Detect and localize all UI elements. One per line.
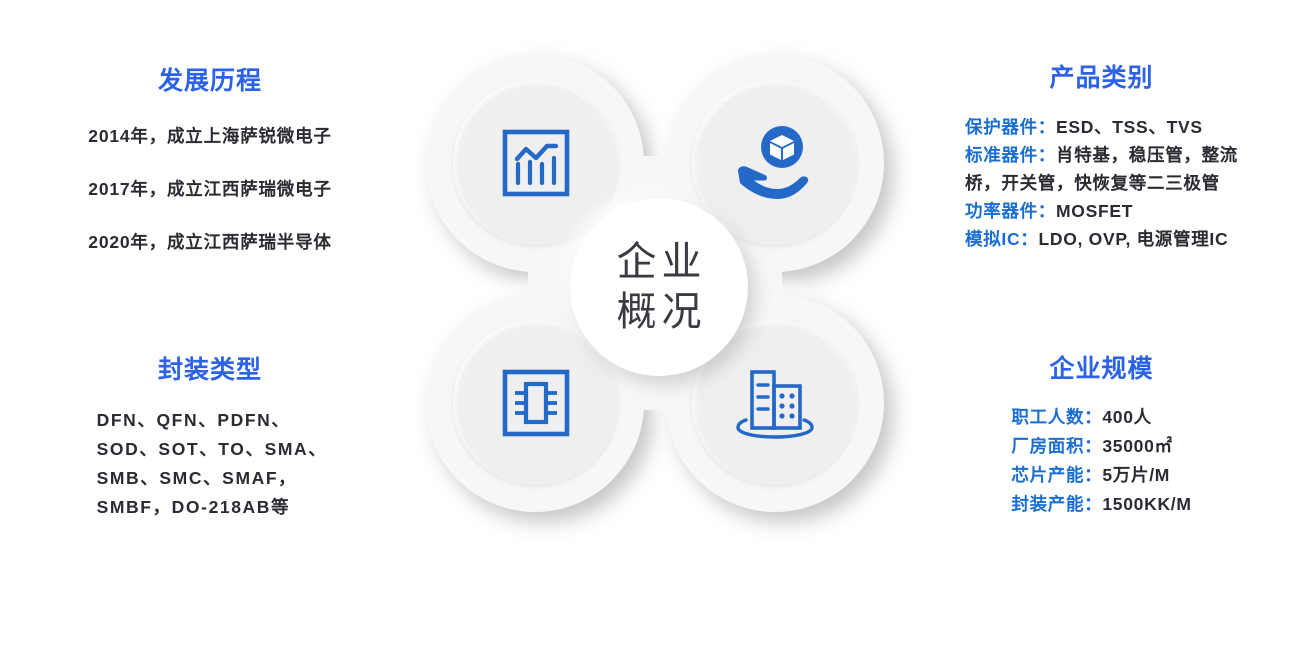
history-item-2014: 2014年，成立上海萨锐微电子 <box>0 123 420 148</box>
product-category-list: 保护器件：ESD、TSS、TVS 标准器件：肖特基，稳压管，整流 桥，开关管，快… <box>965 113 1238 253</box>
scale-value-employees: 400人 <box>1102 407 1152 427</box>
center-title-line-2: 概况 <box>612 287 707 337</box>
scale-line-employees: 职工人数：400人 <box>1011 403 1191 432</box>
scale-value-chip-capacity: 5万片/M <box>1102 465 1170 485</box>
center-title-circle: 企业 概况 <box>570 198 748 376</box>
panel-title-product-categories: 产品类别 <box>900 65 1303 93</box>
package-line-3: SMB、SMC、SMAF， <box>97 464 328 493</box>
scale-line-package-capacity: 封装产能：1500KK/M <box>1011 490 1191 519</box>
product-line-standard: 标准器件：肖特基，稳压管，整流 <box>965 141 1238 169</box>
scale-label-factory-area: 厂房面积： <box>1011 436 1102 456</box>
buildings-icon <box>735 364 815 442</box>
panel-enterprise-scale: 企业规模 职工人数：400人 厂房面积：35000㎡ 芯片产能：5万片/M 封装… <box>900 356 1303 519</box>
scale-line-chip-capacity: 芯片产能：5万片/M <box>1011 461 1191 490</box>
product-value-standard-cont: 桥，开关管，快恢复等二三极管 <box>965 173 1220 193</box>
package-line-1: DFN、QFN、PDFN、 <box>97 406 328 435</box>
panel-package-types: 封装类型 DFN、QFN、PDFN、 SOD、SOT、TO、SMA、 SMB、S… <box>0 357 420 522</box>
product-line-power: 功率器件：MOSFET <box>965 197 1238 225</box>
scale-label-employees: 职工人数： <box>1011 407 1102 427</box>
package-line-4: SMBF，DO-218AB等 <box>97 493 328 522</box>
panel-title-enterprise-scale: 企业规模 <box>900 356 1303 384</box>
product-line-analog-ic: 模拟IC：LDO, OVP, 电源管理IC <box>965 225 1238 253</box>
scale-label-chip-capacity: 芯片产能： <box>1011 465 1102 485</box>
enterprise-scale-list: 职工人数：400人 厂房面积：35000㎡ 芯片产能：5万片/M 封装产能：15… <box>1011 403 1191 519</box>
product-line-protection: 保护器件：ESD、TSS、TVS <box>965 113 1238 141</box>
history-item-2017: 2017年，成立江西萨瑞微电子 <box>0 176 420 201</box>
hand-holding-box-icon <box>734 123 816 203</box>
history-item-2020: 2020年，成立江西萨瑞半导体 <box>0 229 420 254</box>
scale-value-factory-area: 35000㎡ <box>1102 436 1172 456</box>
product-value-standard: 肖特基，稳压管，整流 <box>1056 145 1238 165</box>
product-label-protection: 保护器件： <box>965 117 1056 137</box>
product-label-analog-ic: 模拟IC： <box>965 229 1039 249</box>
scale-line-factory-area: 厂房面积：35000㎡ <box>1011 432 1191 461</box>
panel-development-history: 发展历程 2014年，成立上海萨锐微电子 2017年，成立江西萨瑞微电子 202… <box>0 68 420 254</box>
product-value-protection: ESD、TSS、TVS <box>1056 117 1203 137</box>
package-line-2: SOD、SOT、TO、SMA、 <box>97 435 328 464</box>
product-value-analog-ic: LDO, OVP, 电源管理IC <box>1039 229 1229 249</box>
package-type-list: DFN、QFN、PDFN、 SOD、SOT、TO、SMA、 SMB、SMC、SM… <box>97 406 328 522</box>
product-value-power: MOSFET <box>1056 201 1133 221</box>
chip-package-icon <box>499 366 573 440</box>
scale-label-package-capacity: 封装产能： <box>1011 494 1102 514</box>
infographic-canvas: 发展历程 2014年，成立上海萨锐微电子 2017年，成立江西萨瑞微电子 202… <box>0 0 1303 649</box>
cloverleaf-graphic: 企业 概况 <box>420 48 890 518</box>
panel-title-package-types: 封装类型 <box>0 357 420 385</box>
panel-product-categories: 产品类别 保护器件：ESD、TSS、TVS 标准器件：肖特基，稳压管，整流 桥，… <box>900 65 1303 253</box>
product-label-standard: 标准器件： <box>965 145 1056 165</box>
center-title-line-1: 企业 <box>612 237 707 287</box>
bar-chart-icon <box>499 126 573 200</box>
panel-title-development-history: 发展历程 <box>0 68 420 96</box>
product-line-standard-cont: 桥，开关管，快恢复等二三极管 <box>965 169 1238 197</box>
icon-disc-development-history[interactable] <box>453 80 618 245</box>
scale-value-package-capacity: 1500KK/M <box>1102 494 1191 514</box>
product-label-power: 功率器件： <box>965 201 1056 221</box>
